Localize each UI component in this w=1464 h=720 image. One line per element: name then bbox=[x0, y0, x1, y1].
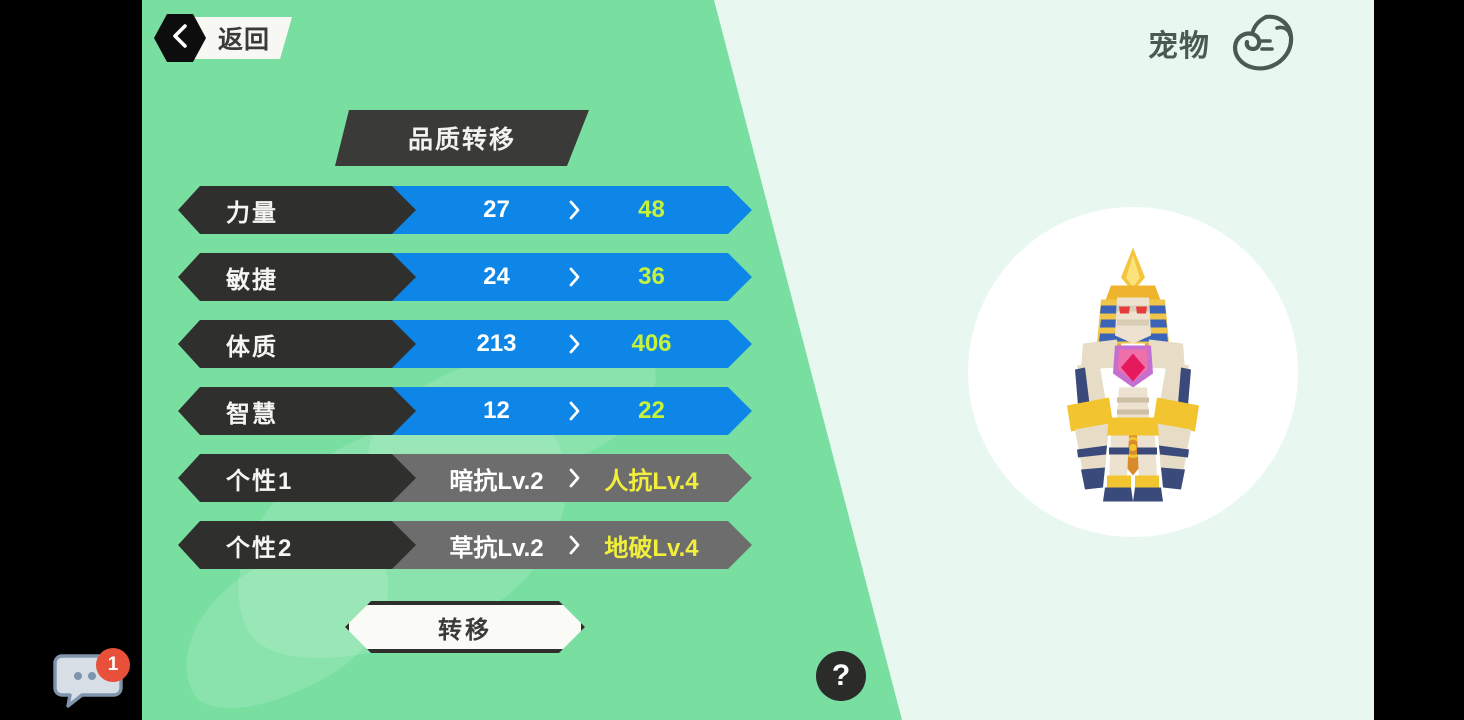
stat-new-value: 人抗Lv.4 bbox=[587, 461, 716, 496]
stat-value-bar[interactable]: 暗抗Lv.2 人抗Lv.4 bbox=[392, 454, 752, 502]
stat-new-value: 22 bbox=[587, 397, 716, 425]
chevron-left-icon bbox=[169, 23, 191, 54]
stat-rows-list: 力量 27 48 敏捷 24 bbox=[142, 186, 932, 588]
page-title: 品质转移 bbox=[408, 120, 516, 156]
chevron-right-icon bbox=[561, 333, 587, 355]
back-button-label[interactable]: 返回 bbox=[194, 17, 292, 59]
help-button[interactable]: ? bbox=[816, 651, 866, 701]
stat-value-bar[interactable]: 27 48 bbox=[392, 186, 752, 234]
transfer-button[interactable]: 转移 bbox=[345, 601, 585, 653]
chat-bubble-button[interactable]: 1 bbox=[52, 652, 132, 712]
pet-header[interactable]: 宠物 bbox=[1148, 8, 1296, 78]
back-button[interactable]: 返回 bbox=[154, 14, 292, 62]
stat-old-value: 草抗Lv.2 bbox=[432, 528, 561, 563]
stat-row-constitution[interactable]: 体质 213 406 bbox=[142, 320, 932, 368]
stat-new-value: 406 bbox=[587, 330, 716, 358]
pet-portrait-frame[interactable] bbox=[968, 207, 1298, 537]
pharaoh-mummy-character bbox=[1033, 240, 1233, 505]
chevron-right-icon bbox=[561, 266, 587, 288]
stat-old-value: 24 bbox=[432, 263, 561, 291]
pet-header-label: 宠物 bbox=[1148, 21, 1210, 65]
stat-new-value: 48 bbox=[587, 196, 716, 224]
stat-row-personality-1[interactable]: 个性1 暗抗Lv.2 人抗Lv.4 bbox=[142, 454, 932, 502]
chevron-right-icon bbox=[561, 400, 587, 422]
question-mark-icon: ? bbox=[832, 661, 850, 691]
dragon-head-icon bbox=[1222, 8, 1296, 78]
stat-row-strength[interactable]: 力量 27 48 bbox=[142, 186, 932, 234]
stat-row-wisdom[interactable]: 智慧 12 22 bbox=[142, 387, 932, 435]
game-screen: 返回 宠物 品质转移 力量 27 bbox=[0, 0, 1464, 720]
stat-row-agility[interactable]: 敏捷 24 36 bbox=[142, 253, 932, 301]
stat-old-value: 12 bbox=[432, 397, 561, 425]
stat-value-bar[interactable]: 24 36 bbox=[392, 253, 752, 301]
stat-row-personality-2[interactable]: 个性2 草抗Lv.2 地破Lv.4 bbox=[142, 521, 932, 569]
chevron-right-icon bbox=[561, 199, 587, 221]
stat-old-value: 213 bbox=[432, 330, 561, 358]
transfer-button-label: 转移 bbox=[438, 610, 492, 645]
chat-unread-badge: 1 bbox=[96, 648, 130, 682]
stat-value-bar[interactable]: 12 22 bbox=[392, 387, 752, 435]
chevron-right-icon bbox=[561, 467, 587, 489]
stat-new-value: 36 bbox=[587, 263, 716, 291]
stat-value-bar[interactable]: 213 406 bbox=[392, 320, 752, 368]
chevron-right-icon bbox=[561, 534, 587, 556]
stat-old-value: 暗抗Lv.2 bbox=[432, 461, 561, 496]
stat-new-value: 地破Lv.4 bbox=[587, 528, 716, 563]
stat-value-bar[interactable]: 草抗Lv.2 地破Lv.4 bbox=[392, 521, 752, 569]
page-title-banner: 品质转移 bbox=[335, 110, 589, 166]
stat-old-value: 27 bbox=[432, 196, 561, 224]
content-stage: 返回 宠物 品质转移 力量 27 bbox=[142, 0, 1374, 720]
